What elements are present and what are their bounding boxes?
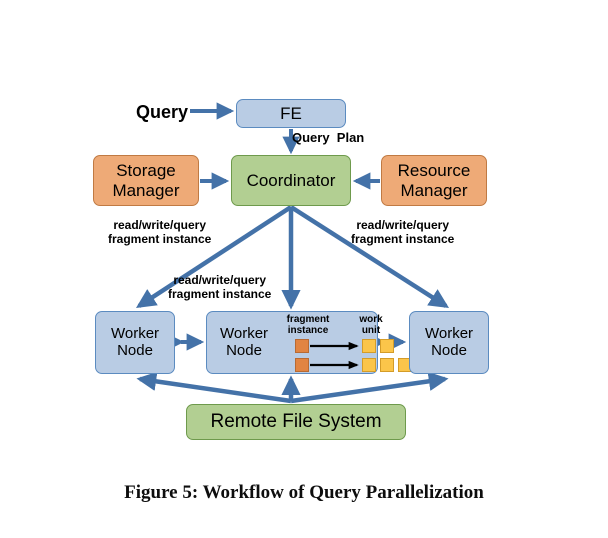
fragment-instance-square: [295, 339, 309, 353]
label-read-write-query-left: read/write/query fragment instance: [108, 219, 211, 247]
work-unit-header: work unit: [349, 315, 393, 337]
node-resource-manager[interactable]: Resource Manager: [381, 155, 487, 206]
node-worker-left[interactable]: Worker Node: [95, 311, 175, 374]
node-remote-file-system[interactable]: Remote File System: [186, 404, 406, 440]
work-unit-square: [380, 358, 394, 372]
work-unit-square: [362, 358, 376, 372]
inner-arrow-row-2: [310, 358, 362, 372]
fragment-instance-square: [295, 358, 309, 372]
node-worker-middle-label: Worker Node: [207, 326, 275, 360]
node-storage-manager[interactable]: Storage Manager: [93, 155, 199, 206]
node-fe[interactable]: FE: [236, 99, 346, 128]
fragment-instance-header: fragment instance: [271, 315, 345, 337]
node-worker-middle[interactable]: Worker Node fragment instance work unit: [206, 311, 378, 374]
figure-caption: Figure 5: Workflow of Query Parallelizat…: [0, 482, 608, 504]
inner-arrow-row-1: [310, 339, 362, 353]
node-coordinator[interactable]: Coordinator: [231, 155, 351, 206]
label-query: Query: [136, 102, 188, 123]
worker-detail-panel: fragment instance work unit: [275, 312, 377, 373]
node-worker-right[interactable]: Worker Node: [409, 311, 489, 374]
label-query-plan: Query Plan: [292, 131, 364, 146]
work-unit-square: [362, 339, 376, 353]
arrow-remote-fs-to-worker-left: [140, 379, 291, 401]
work-unit-square: [380, 339, 394, 353]
label-read-write-query-middle: read/write/query fragment instance: [168, 274, 271, 302]
arrow-remote-fs-to-worker-right: [291, 379, 445, 401]
label-read-write-query-right: read/write/query fragment instance: [351, 219, 454, 247]
arrow-layer: [0, 0, 608, 538]
figure-workflow-query-parallelization: FE Coordinator Storage Manager Resource …: [0, 0, 608, 538]
